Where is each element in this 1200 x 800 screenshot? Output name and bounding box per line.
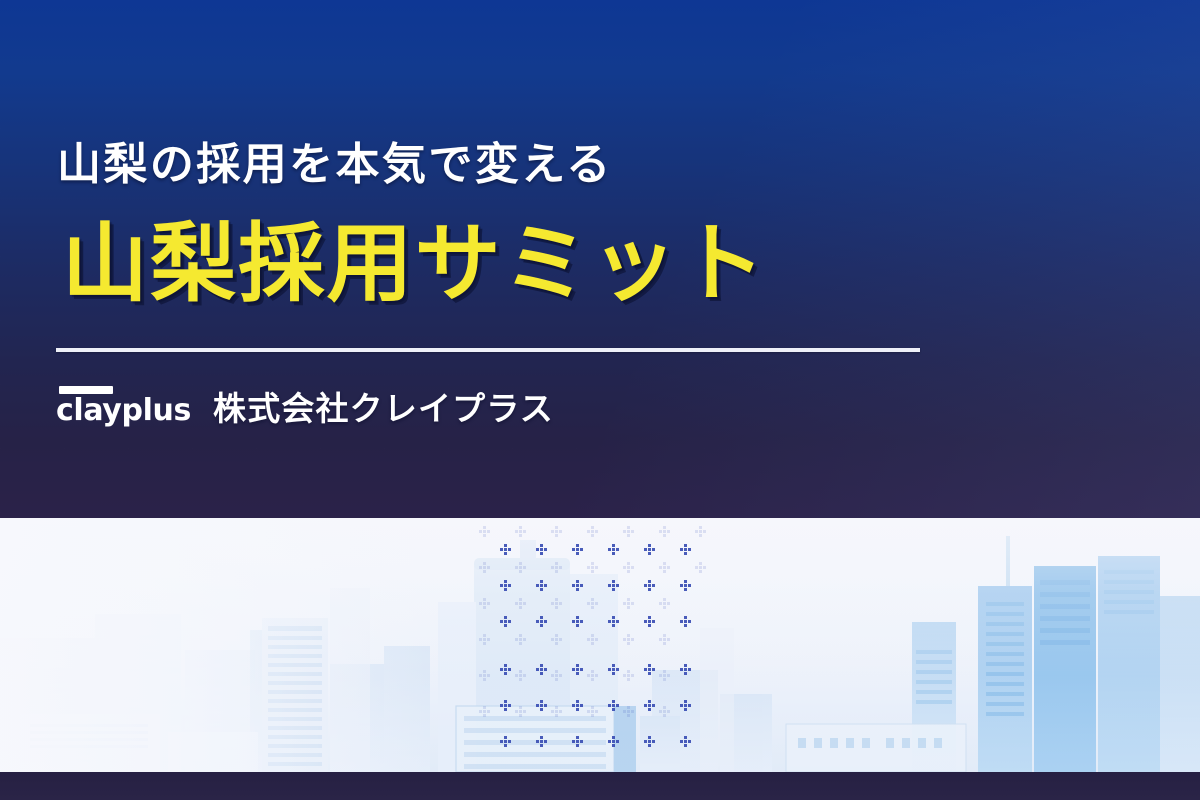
company-name: 株式会社クレイプラス — [213, 392, 554, 425]
cityscape-image — [0, 518, 1200, 772]
banner-subtitle: 山梨の採用を本気で変える — [57, 143, 613, 187]
banner-title: 山梨採用サミット — [62, 221, 767, 307]
horizontal-divider — [56, 348, 920, 352]
clayplus-logo: clayplus — [56, 386, 191, 424]
hero-content: 山梨の採用を本気で変える 山梨採用サミット clayplus 株式会社クレイプラ… — [0, 0, 1200, 518]
cityscape-illustration — [0, 518, 1200, 772]
brand-row: clayplus 株式会社クレイプラス — [56, 381, 554, 429]
hero-section: 山梨の採用を本気で変える 山梨採用サミット clayplus 株式会社クレイプラ… — [0, 0, 1200, 518]
footer-strip — [0, 772, 1200, 800]
logo-wordmark: clayplus — [56, 398, 191, 424]
event-banner: 山梨の採用を本気で変える 山梨採用サミット clayplus 株式会社クレイプラ… — [0, 0, 1200, 800]
